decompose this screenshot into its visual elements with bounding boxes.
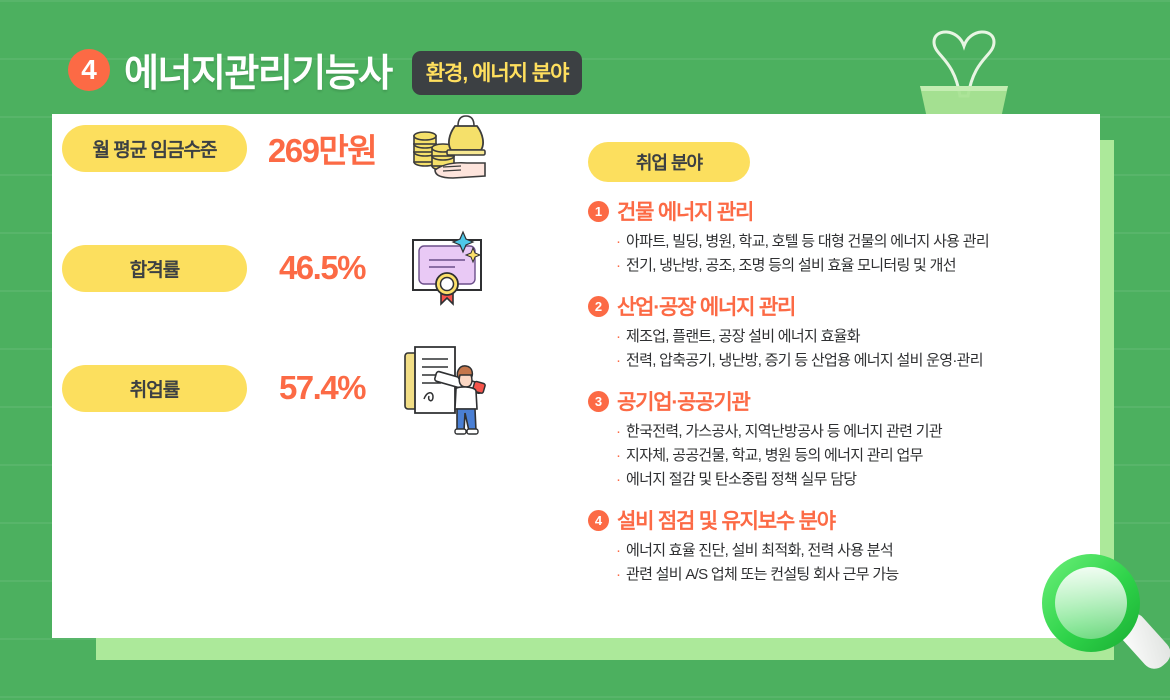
- bullet-dot-icon: ·: [616, 231, 621, 253]
- job-section-number: 3: [588, 391, 609, 412]
- stats-panel: 월 평균 임금수준 269만원: [62, 100, 532, 460]
- job-bullet: · 에너지 효율 진단, 설비 최적화, 전력 사용 분석: [616, 540, 1088, 562]
- bullet-dot-icon: ·: [616, 255, 621, 277]
- job-section-title: 산업·공장 에너지 관리: [617, 291, 795, 321]
- job-section: 4 설비 점검 및 유지보수 분야 · 에너지 효율 진단, 설비 최적화, 전…: [588, 505, 1088, 586]
- bullet-dot-icon: ·: [616, 564, 621, 586]
- job-bullet-text: 한국전력, 가스공사, 지역난방공사 등 에너지 관련 기관: [626, 421, 942, 443]
- bullet-dot-icon: ·: [616, 350, 621, 372]
- job-section-header: 3 공기업·공공기관: [588, 386, 1088, 416]
- bullet-dot-icon: ·: [616, 469, 621, 491]
- stat-value: 57.4%: [247, 369, 397, 407]
- job-bullet: · 제조업, 플랜트, 공장 설비 에너지 효율화: [616, 326, 1088, 348]
- magnifying-glass-icon: [1036, 548, 1170, 700]
- job-bullet-text: 에너지 절감 및 탄소중립 정책 실무 담당: [626, 469, 856, 491]
- section-number-badge: 4: [68, 49, 110, 91]
- stat-row: 합격률 46.5%: [62, 220, 532, 316]
- job-bullet-text: 전력, 압축공기, 냉난방, 증기 등 산업용 에너지 설비 운영·관리: [626, 350, 983, 372]
- job-section: 2 산업·공장 에너지 관리 · 제조업, 플랜트, 공장 설비 에너지 효율화…: [588, 291, 1088, 372]
- job-bullet: · 지자체, 공공건물, 학교, 병원 등의 에너지 관리 업무: [616, 445, 1088, 467]
- job-bullet-text: 관련 설비 A/S 업체 또는 컨설팅 회사 근무 가능: [626, 564, 899, 586]
- bullet-dot-icon: ·: [616, 421, 621, 443]
- job-bullet-text: 아파트, 빌딩, 병원, 학교, 호텔 등 대형 건물의 에너지 사용 관리: [626, 231, 989, 253]
- job-section: 3 공기업·공공기관 · 한국전력, 가스공사, 지역난방공사 등 에너지 관련…: [588, 386, 1088, 491]
- stat-value: 46.5%: [247, 249, 397, 287]
- job-section-number: 1: [588, 201, 609, 222]
- stat-value: 269만원: [247, 124, 397, 172]
- bullet-dot-icon: ·: [616, 540, 621, 562]
- category-badge: 환경, 에너지 분야: [412, 51, 583, 95]
- job-bullet: · 에너지 절감 및 탄소중립 정책 실무 담당: [616, 469, 1088, 491]
- page-title: 에너지관리기능사: [124, 42, 392, 97]
- job-bullet: · 아파트, 빌딩, 병원, 학교, 호텔 등 대형 건물의 에너지 사용 관리: [616, 231, 1088, 253]
- jobs-section-label: 취업 분야: [588, 142, 750, 182]
- job-section: 1 건물 에너지 관리 · 아파트, 빌딩, 병원, 학교, 호텔 등 대형 건…: [588, 196, 1088, 277]
- job-section-number: 4: [588, 510, 609, 531]
- bullet-dot-icon: ·: [616, 445, 621, 467]
- bullet-dot-icon: ·: [616, 326, 621, 348]
- certificate-icon: [397, 224, 497, 312]
- job-section-number: 2: [588, 296, 609, 317]
- job-section-title: 건물 에너지 관리: [617, 196, 753, 226]
- job-bullet-text: 제조업, 플랜트, 공장 설비 에너지 효율화: [626, 326, 860, 348]
- clipboard-person-icon: [397, 341, 497, 436]
- stat-row: 월 평균 임금수준 269만원: [62, 100, 532, 196]
- job-section-title: 설비 점검 및 유지보수 분야: [617, 505, 835, 535]
- job-section-title: 공기업·공공기관: [617, 386, 750, 416]
- job-bullet: · 한국전력, 가스공사, 지역난방공사 등 에너지 관련 기관: [616, 421, 1088, 443]
- job-bullet-text: 전기, 냉난방, 공조, 조명 등의 설비 효율 모니터링 및 개선: [626, 255, 956, 277]
- stat-label: 취업률: [62, 365, 247, 412]
- job-bullet-text: 에너지 효율 진단, 설비 최적화, 전력 사용 분석: [626, 540, 893, 562]
- job-section-header: 4 설비 점검 및 유지보수 분야: [588, 505, 1088, 535]
- job-bullet: · 전력, 압축공기, 냉난방, 증기 등 산업용 에너지 설비 운영·관리: [616, 350, 1088, 372]
- stat-label: 합격률: [62, 245, 247, 292]
- job-bullet: · 관련 설비 A/S 업체 또는 컨설팅 회사 근무 가능: [616, 564, 1088, 586]
- job-bullet: · 전기, 냉난방, 공조, 조명 등의 설비 효율 모니터링 및 개선: [616, 255, 1088, 277]
- jobs-panel: 취업 분야 1 건물 에너지 관리 · 아파트, 빌딩, 병원, 학교, 호텔 …: [588, 142, 1088, 600]
- job-section-header: 2 산업·공장 에너지 관리: [588, 291, 1088, 321]
- job-bullet-text: 지자체, 공공건물, 학교, 병원 등의 에너지 관리 업무: [626, 445, 923, 467]
- stat-row: 취업률 57.4%: [62, 340, 532, 436]
- header: 4 에너지관리기능사 환경, 에너지 분야: [68, 42, 582, 97]
- money-bag-icon: [397, 104, 497, 192]
- stat-label: 월 평균 임금수준: [62, 125, 247, 172]
- job-section-header: 1 건물 에너지 관리: [588, 196, 1088, 226]
